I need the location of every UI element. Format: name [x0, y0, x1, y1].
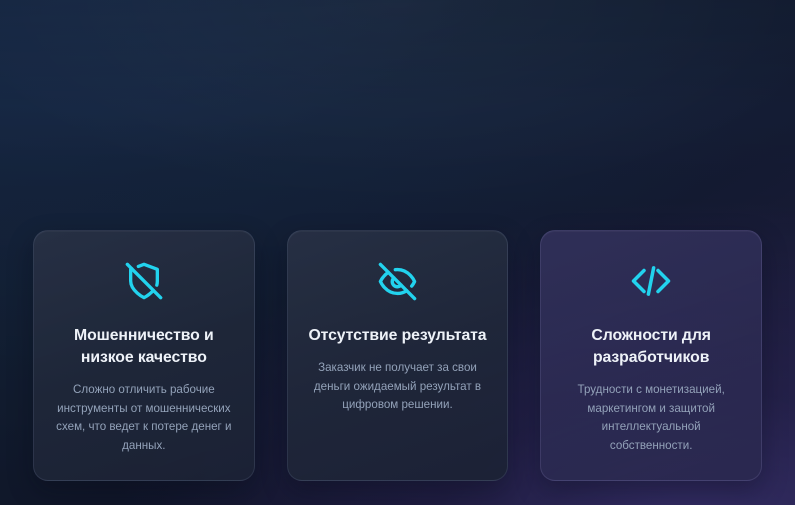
trust-deficit-section: Дефицит доверия на рынке ИИ Текущий рыно…: [0, 0, 795, 505]
problem-card-no-result[interactable]: Отсутствие результата Заказчик не получа…: [287, 230, 509, 481]
code-brackets-icon: [558, 255, 744, 307]
eye-off-icon: [305, 255, 491, 307]
problem-card-fraud[interactable]: Мошенничество и низкое качество Сложно о…: [33, 230, 255, 481]
card-description: Сложно отличить рабочие инструменты от м…: [51, 381, 237, 455]
card-title: Сложности для разработчиков: [558, 325, 744, 369]
card-title: Мошенничество и низкое качество: [51, 325, 237, 369]
card-description: Заказчик не получает за свои деньги ожид…: [305, 359, 491, 415]
problem-card-developers[interactable]: Сложности для разработчиков Трудности с …: [540, 230, 762, 481]
problem-cards-grid: Мошенничество и низкое качество Сложно о…: [33, 230, 762, 481]
shield-off-icon: [51, 255, 237, 307]
card-description: Трудности с монетизацией, маркетингом и …: [558, 381, 744, 455]
card-title: Отсутствие результата: [305, 325, 491, 347]
